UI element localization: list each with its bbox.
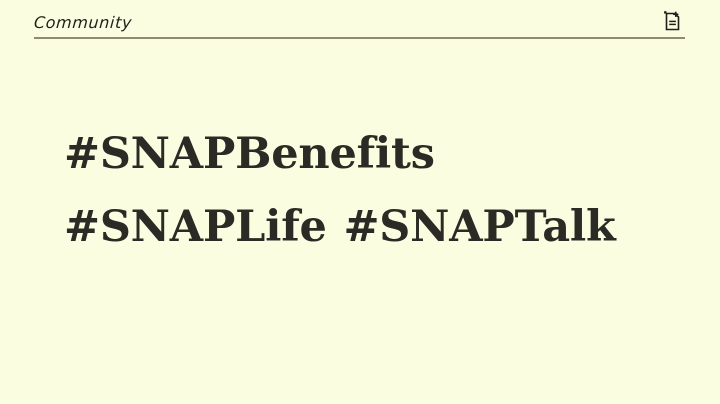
slide-canvas: Community #SNAPBenefits #SNAPLif [0, 0, 720, 404]
slide-content: #SNAPBenefits #SNAPLife #SNAPTalk [64, 118, 664, 264]
add-note-icon [663, 10, 682, 36]
headline-text: #SNAPBenefits #SNAPLife #SNAPTalk [64, 118, 664, 264]
add-note-button[interactable] [660, 10, 684, 36]
header-divider [34, 37, 685, 39]
slide-header: Community [34, 6, 685, 40]
page-title: Community [33, 15, 132, 31]
